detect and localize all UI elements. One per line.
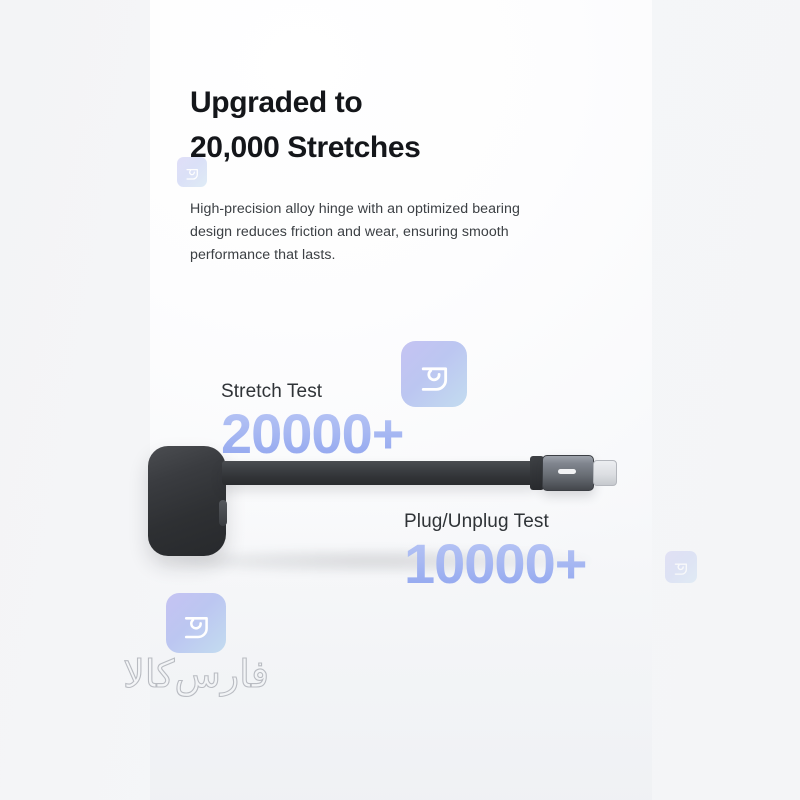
description-line-2: design reduces friction and wear, ensuri…: [190, 221, 570, 244]
stat-stretch-test-value: 20000+: [221, 404, 403, 464]
brand-logo-badge: [166, 593, 226, 653]
headline-line-2: 20,000 Stretches: [190, 125, 610, 170]
brand-wordmark: فارس‌کالا: [139, 655, 269, 693]
brand-glyph-icon: [401, 341, 467, 407]
product-marketing-image: Upgraded to 20,000 Stretches High-precis…: [0, 0, 800, 800]
description-text: High-precision alloy hinge with an optim…: [190, 198, 570, 267]
stat-plug-unplug-test-label: Plug/Unplug Test: [404, 511, 586, 534]
brand-glyph-icon: [665, 551, 697, 583]
stat-stretch-test-label: Stretch Test: [221, 381, 403, 404]
description-line-1: High-precision alloy hinge with an optim…: [190, 198, 570, 221]
description-line-3: performance that lasts.: [190, 244, 570, 267]
stat-plug-unplug-test-value: 10000+: [404, 534, 586, 594]
stat-plug-unplug-test: Plug/Unplug Test 10000+: [404, 511, 586, 594]
stat-stretch-test: Stretch Test 20000+: [221, 381, 403, 464]
headline-line-1: Upgraded to: [190, 80, 610, 125]
page-title: Upgraded to 20,000 Stretches: [190, 80, 610, 170]
